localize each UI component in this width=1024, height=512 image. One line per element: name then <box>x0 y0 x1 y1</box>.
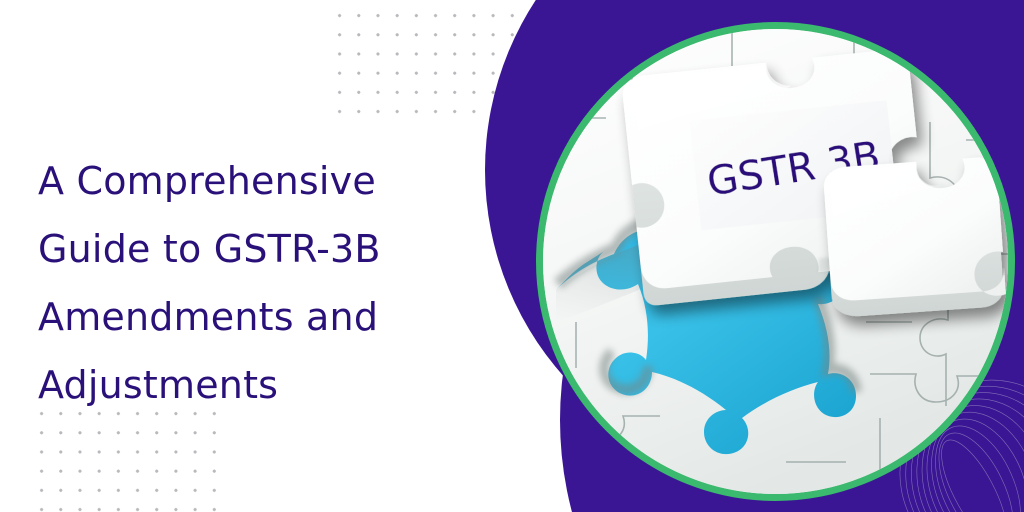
page-title: A Comprehensive Guide to GSTR-3B Amendme… <box>38 147 438 419</box>
dot-grid-bottom-decoration <box>32 404 222 512</box>
puzzle-illustration: GSTR 3B <box>536 22 1015 501</box>
banner-canvas: A Comprehensive Guide to GSTR-3B Amendme… <box>0 0 1024 512</box>
puzzle-circle-image: GSTR 3B <box>536 22 1015 501</box>
secondary-puzzle-piece <box>823 156 1007 318</box>
